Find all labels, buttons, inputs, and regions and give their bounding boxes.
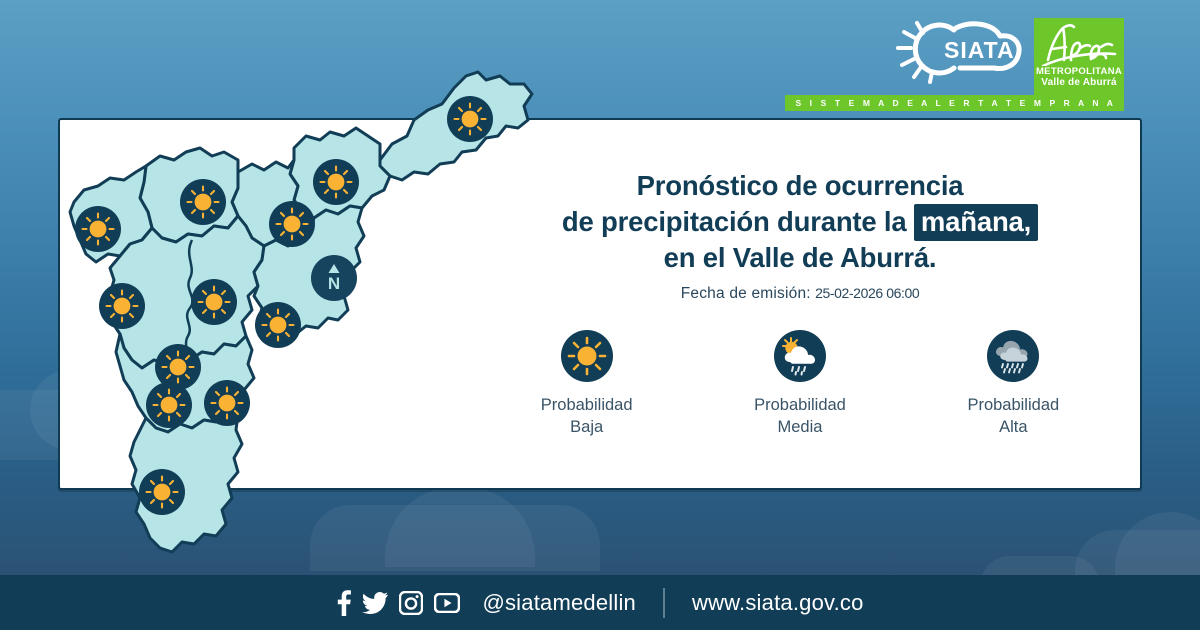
facebook-icon[interactable] [336, 590, 351, 616]
legend-label-line1: Probabilidad [499, 394, 674, 416]
cloud-shape [1115, 512, 1200, 582]
twitter-icon[interactable] [362, 592, 388, 614]
page-title: Pronóstico de ocurrencia de precipitació… [470, 168, 1130, 276]
map-marker-guarne[interactable] [255, 302, 301, 348]
compass-north-icon: N [311, 255, 357, 301]
legend-label-line1: Probabilidad [926, 394, 1101, 416]
map-marker-caldas[interactable] [139, 469, 185, 515]
map-marker-girardota[interactable] [313, 159, 359, 205]
logo-group: SIATA METROPOLITANA Valle de Aburrá [896, 18, 1124, 96]
headline-line-3: en el Valle de Aburrá. [470, 240, 1130, 276]
map-marker-bello[interactable] [75, 206, 121, 252]
legend-item-baja: Probabilidad Baja [499, 330, 674, 438]
social-handle[interactable]: @siatamedellin [482, 590, 636, 616]
headline-highlight: mañana, [914, 204, 1038, 241]
area-metropolitana-logo: METROPOLITANA Valle de Aburrá [1034, 18, 1124, 96]
legend-item-media: Probabilidad Media [712, 330, 887, 438]
area-script-icon [1041, 22, 1117, 66]
siata-logo: SIATA [896, 18, 1024, 90]
map-marker-san-pedro[interactable] [180, 179, 226, 225]
headline-line-2-pre: de precipitación durante la [562, 206, 914, 237]
emission-date-label: Fecha de emisión: [681, 285, 811, 302]
map-marker-envigado[interactable] [99, 283, 145, 329]
probability-legend: Probabilidad Baja [480, 330, 1120, 438]
legend-label-line2: Baja [499, 416, 674, 438]
legend-item-alta: Probabilidad Alta [926, 330, 1101, 438]
infographic-root: SIATA METROPOLITANA Valle de Aburrá S I … [0, 0, 1200, 630]
footer-bar: @siatamedellin www.siata.gov.co [0, 575, 1200, 630]
valle-de-aburra-map: N [62, 40, 562, 580]
map-marker-sabaneta[interactable] [204, 380, 250, 426]
map-marker-la-estrella[interactable] [146, 382, 192, 428]
sun-icon [561, 330, 613, 382]
youtube-icon[interactable] [434, 593, 460, 613]
legend-label-baja: Probabilidad Baja [499, 394, 674, 438]
map-marker-medellin[interactable] [191, 279, 237, 325]
area-logo-line2: Valle de Aburrá [1041, 77, 1116, 89]
legend-label-line2: Media [712, 416, 887, 438]
website-url[interactable]: www.siata.gov.co [692, 590, 864, 616]
headline-line-1: Pronóstico de ocurrencia [470, 168, 1130, 204]
sun-rain-cloud-icon [774, 330, 826, 382]
legend-label-media: Probabilidad Media [712, 394, 887, 438]
map-marker-layer: N [62, 40, 562, 580]
social-links [336, 590, 460, 616]
map-marker-copacabana[interactable] [269, 201, 315, 247]
headline-line-2: de precipitación durante la mañana, [470, 204, 1130, 240]
map-marker-barbosa[interactable] [447, 96, 493, 142]
instagram-icon[interactable] [399, 591, 423, 615]
svg-text:N: N [328, 274, 340, 293]
area-logo-line1: METROPOLITANA [1036, 66, 1122, 77]
siata-logo-text: SIATA [944, 37, 1015, 63]
emission-date-value: 25-02-2026 06:00 [815, 285, 919, 301]
legend-label-line1: Probabilidad [712, 394, 887, 416]
emission-date: Fecha de emisión: 25-02-2026 06:00 [470, 285, 1130, 303]
footer-divider [663, 588, 665, 618]
rain-cloud-icon [987, 330, 1039, 382]
legend-label-line2: Alta [926, 416, 1101, 438]
legend-label-alta: Probabilidad Alta [926, 394, 1101, 438]
siata-tagline: S I S T E M A D E A L E R T A T E M P R … [785, 95, 1124, 111]
